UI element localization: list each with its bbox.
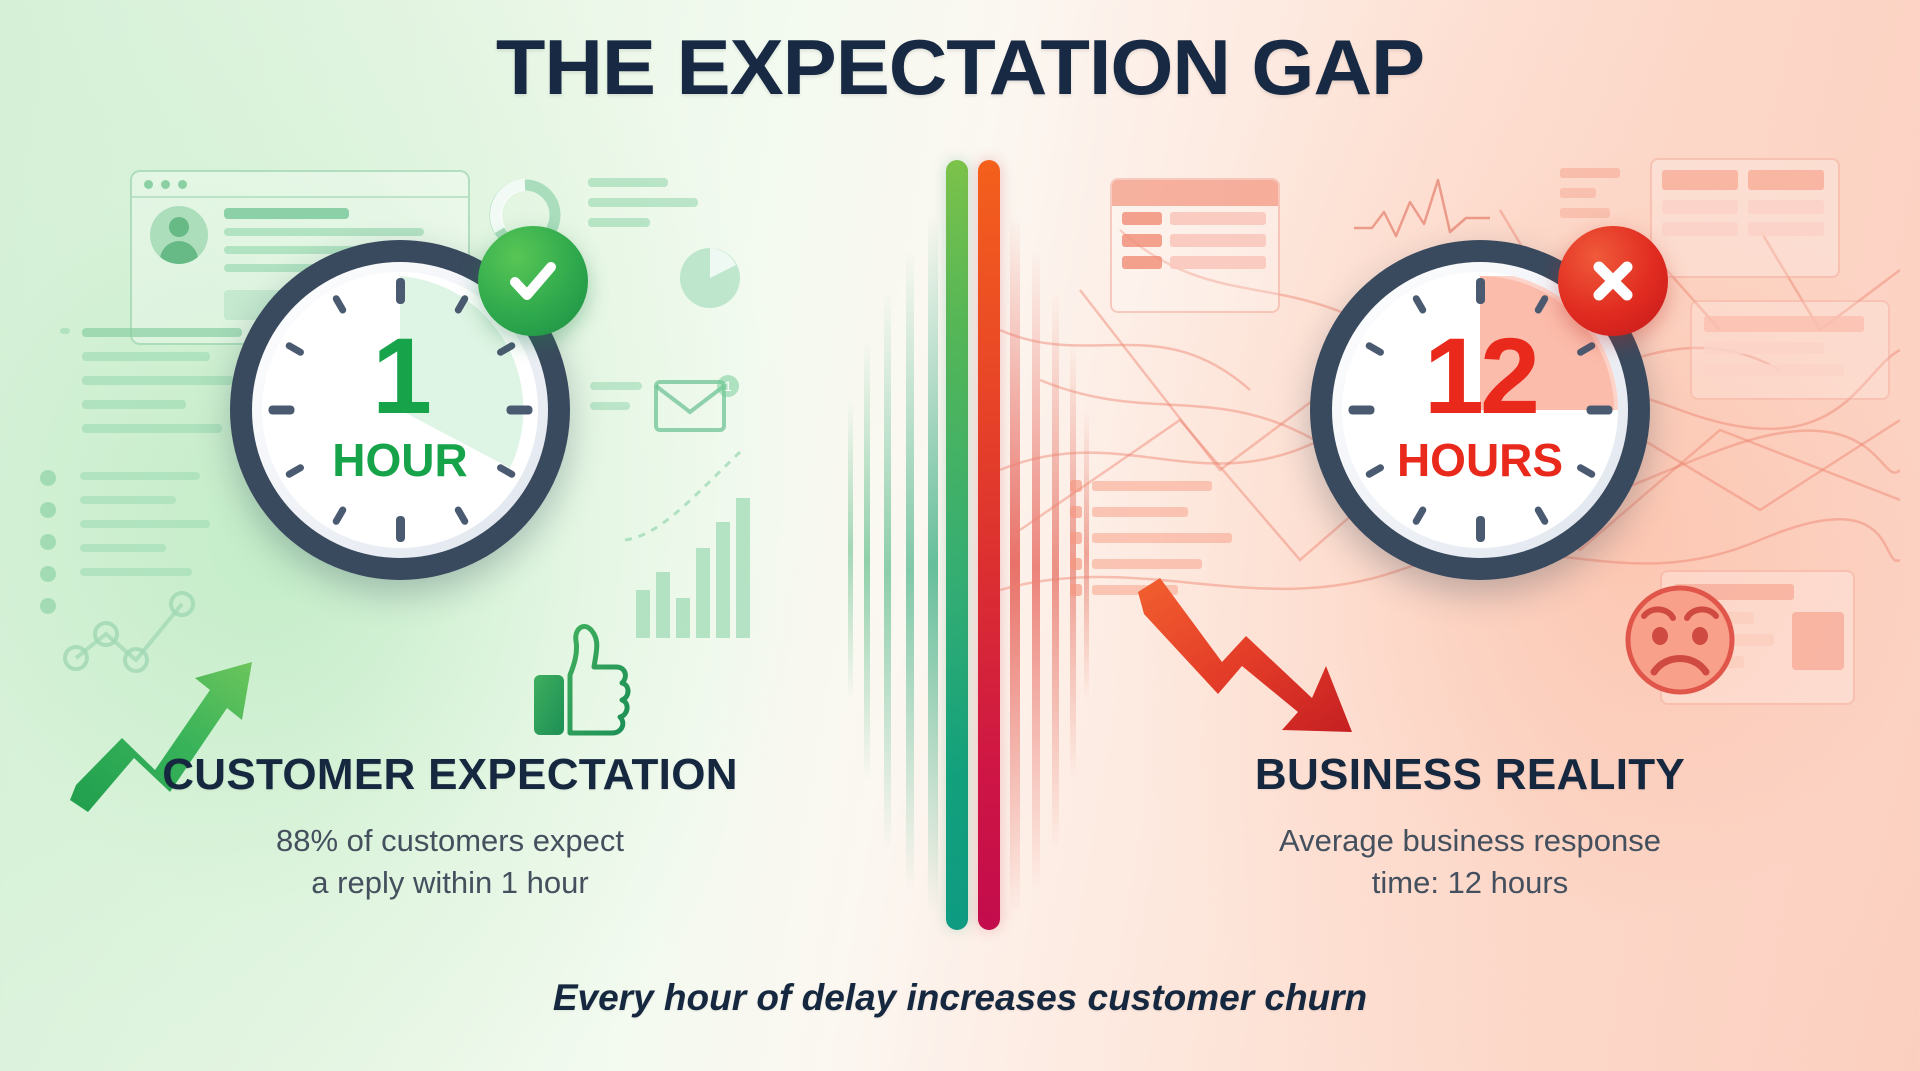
divider-echo-green bbox=[848, 400, 853, 700]
clock-tick bbox=[396, 516, 405, 542]
cross-badge bbox=[1558, 226, 1668, 336]
thumbs-up-icon bbox=[530, 615, 640, 745]
left-caption: CUSTOMER EXPECTATION 88% of customers ex… bbox=[40, 750, 860, 904]
dashed-curve-icon bbox=[620, 440, 760, 550]
divider-echo-red bbox=[1052, 290, 1059, 850]
list-lines-icon bbox=[1070, 480, 1260, 620]
divider-echo-green bbox=[884, 290, 891, 850]
divider-bar-red bbox=[978, 160, 1000, 930]
business-reality-panel: 12 HOURS BUSINESS REALITY Average busine… bbox=[1060, 150, 1880, 1030]
table-card-icon bbox=[1650, 158, 1840, 278]
placeholder-line bbox=[588, 218, 650, 227]
left-heading: CUSTOMER EXPECTATION bbox=[40, 750, 860, 800]
clock-value: 1 bbox=[230, 326, 570, 425]
sad-face-icon bbox=[1620, 580, 1740, 700]
right-caption: BUSINESS REALITY Average business respon… bbox=[1060, 750, 1880, 904]
right-heading: BUSINESS REALITY bbox=[1060, 750, 1880, 800]
clock-unit: HOUR bbox=[230, 433, 570, 487]
expectation-clock: 1 HOUR bbox=[230, 240, 570, 580]
window-dot bbox=[144, 180, 153, 189]
placeholder-line bbox=[588, 198, 698, 207]
divider-echo-green bbox=[864, 340, 870, 780]
bullet-dots-icon bbox=[40, 470, 56, 614]
page-title: THE EXPECTATION GAP bbox=[0, 22, 1920, 113]
table-card-icon bbox=[1690, 300, 1890, 400]
envelope-icon: 1 bbox=[652, 372, 744, 438]
left-sub-line-2: a reply within 1 hour bbox=[40, 862, 860, 904]
window-dot bbox=[161, 180, 170, 189]
placeholder-line bbox=[590, 382, 642, 390]
window-dot bbox=[178, 180, 187, 189]
placeholder-line bbox=[1560, 208, 1610, 218]
clock-unit: HOURS bbox=[1310, 433, 1650, 487]
cross-icon bbox=[1584, 252, 1642, 310]
divider-echo-red bbox=[1010, 215, 1020, 915]
table-card-icon bbox=[1660, 570, 1855, 705]
placeholder-line bbox=[590, 402, 630, 410]
list-lines-icon bbox=[80, 472, 240, 592]
placeholder-line bbox=[1560, 168, 1620, 178]
avatar-icon bbox=[150, 206, 208, 264]
right-sub-line-1: Average business response bbox=[1060, 820, 1880, 862]
bar-chart-icon bbox=[630, 480, 760, 640]
clock-tick bbox=[1476, 516, 1485, 542]
divider-echo-green bbox=[928, 215, 938, 915]
clock-value: 12 bbox=[1310, 326, 1650, 425]
trend-down-arrow-icon bbox=[1130, 570, 1370, 760]
right-sub-line-2: time: 12 hours bbox=[1060, 862, 1880, 904]
pie-chart-icon bbox=[670, 238, 750, 318]
footer-tagline: Every hour of delay increases customer c… bbox=[0, 977, 1920, 1019]
placeholder-line bbox=[224, 228, 424, 236]
reality-clock: 12 HOURS bbox=[1310, 240, 1650, 580]
customer-expectation-panel: 1 bbox=[40, 150, 860, 1030]
placeholder-line bbox=[1560, 188, 1596, 198]
placeholder-line bbox=[224, 208, 349, 219]
placeholder-line bbox=[588, 178, 668, 187]
center-divider bbox=[830, 160, 1090, 960]
clock-tick bbox=[1476, 278, 1485, 304]
divider-echo-green bbox=[906, 250, 914, 890]
node-graph-icon bbox=[58, 582, 208, 692]
divider-bar-green bbox=[946, 160, 968, 930]
svg-text:1: 1 bbox=[724, 378, 732, 394]
clock-tick bbox=[396, 278, 405, 304]
divider-echo-red bbox=[1032, 250, 1040, 890]
card-list-icon bbox=[1110, 178, 1280, 313]
check-badge bbox=[478, 226, 588, 336]
check-icon bbox=[502, 250, 564, 312]
left-sub-line-1: 88% of customers expect bbox=[40, 820, 860, 862]
list-lines-icon bbox=[60, 328, 250, 458]
